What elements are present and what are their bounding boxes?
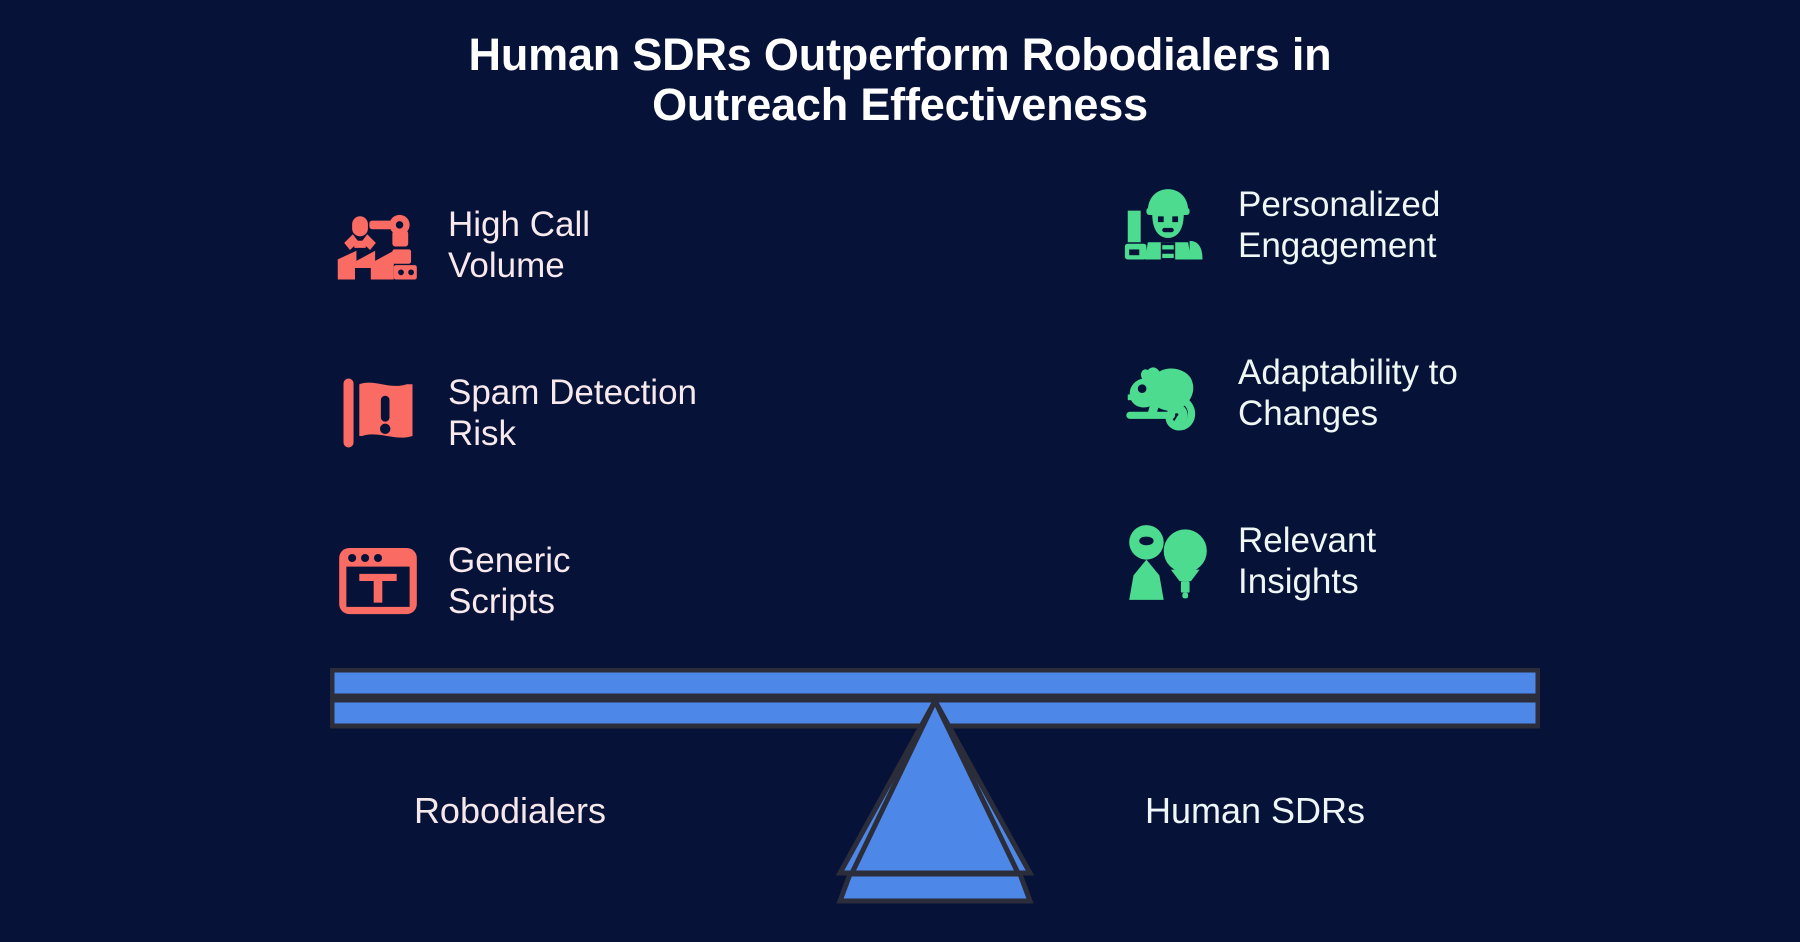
feature-label: High Call Volume <box>448 204 590 287</box>
robot-arm-factory-icon <box>330 197 426 293</box>
feature-label: Spam Detection Risk <box>448 372 697 455</box>
feature-item-personalized-engagement: Personalized Engagement <box>1120 170 1720 280</box>
feature-item-generic-scripts: Generic Scripts <box>330 526 930 636</box>
worker-person-icon <box>1120 177 1216 273</box>
person-lightbulb-icon <box>1120 513 1216 609</box>
chameleon-icon <box>1120 345 1216 441</box>
feature-item-relevant-insights: Relevant Insights <box>1120 506 1720 616</box>
feature-item-spam-detection-risk: Spam Detection Risk <box>330 358 930 468</box>
feature-label: Relevant Insights <box>1238 520 1376 603</box>
browser-text-window-icon <box>330 533 426 629</box>
side-label-robodialers: Robodialers <box>330 790 690 832</box>
feature-item-adaptability-to-changes: Adaptability to Changes <box>1120 338 1720 448</box>
page-title-line-1: Human SDRs Outperform Robodialers in <box>0 30 1800 80</box>
feature-item-high-call-volume: High Call Volume <box>330 190 930 300</box>
flag-warning-icon <box>330 365 426 461</box>
human-sdrs-feature-column: Personalized Engagement <box>1120 190 1720 674</box>
balance-seesaw-graphic <box>330 668 1540 908</box>
page-title-line-2: Outreach Effectiveness <box>0 80 1800 130</box>
page-title: Human SDRs Outperform Robodialers in Out… <box>0 30 1800 131</box>
robodialers-feature-column: High Call Volume Spam Detection Risk <box>330 190 930 694</box>
feature-label: Adaptability to Changes <box>1238 352 1458 435</box>
side-label-human-sdrs: Human SDRs <box>1040 790 1470 832</box>
feature-label: Generic Scripts <box>448 540 571 623</box>
feature-label: Personalized Engagement <box>1238 184 1440 267</box>
